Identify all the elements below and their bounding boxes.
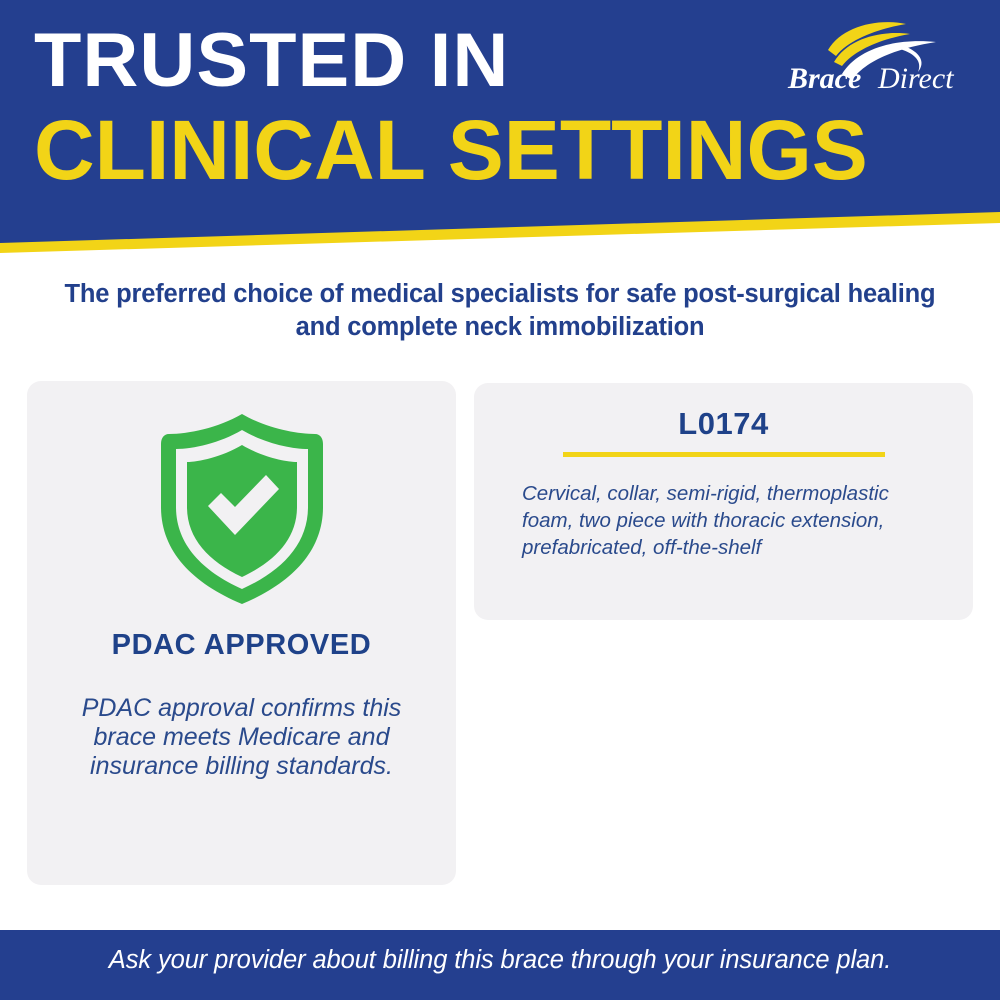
logo-word-brace: Brace	[787, 62, 861, 94]
hcpcs-code-value: L0174	[474, 406, 973, 442]
header-title-block: TRUSTED IN CLINICAL SETTINGS	[34, 18, 794, 196]
shield-check-icon	[27, 411, 456, 607]
hcpcs-code-description: Cervical, collar, semi-rigid, thermoplas…	[522, 480, 942, 561]
header-banner: TRUSTED IN CLINICAL SETTINGS Brace Direc…	[0, 0, 1000, 258]
hcpcs-code-card: L0174 Cervical, collar, semi-rigid, ther…	[474, 383, 973, 620]
subtitle-text: The preferred choice of medical speciali…	[50, 278, 950, 344]
page-title-line-1: TRUSTED IN	[34, 18, 809, 104]
footer-text: Ask your provider about billing this bra…	[0, 946, 1000, 975]
logo-word-direct: Direct	[877, 62, 954, 94]
page-title-line-2: CLINICAL SETTINGS	[34, 104, 794, 196]
infographic-page: TRUSTED IN CLINICAL SETTINGS Brace Direc…	[0, 0, 1000, 1000]
pdac-approved-card: PDAC APPROVED PDAC approval confirms thi…	[27, 381, 456, 885]
pdac-body-text: PDAC approval confirms this brace meets …	[61, 694, 422, 781]
code-underline-rule	[563, 452, 885, 457]
pdac-heading: PDAC APPROVED	[27, 629, 456, 662]
brace-direct-logo: Brace Direct	[786, 22, 976, 94]
